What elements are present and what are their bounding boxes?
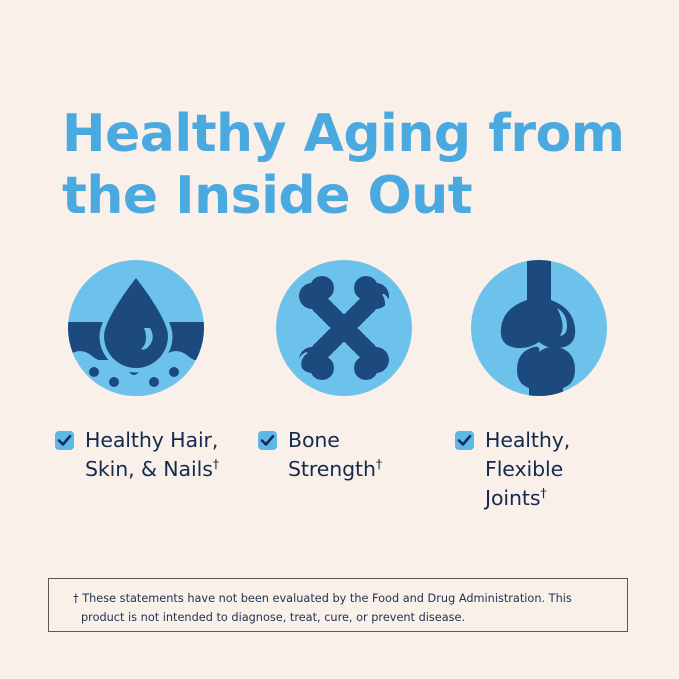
benefit-label-line-3: Joints — [485, 486, 540, 510]
benefit-label-row: Healthy, Flexible Joints† — [455, 426, 655, 513]
disclaimer-text: † These statements have not been evaluat… — [73, 589, 609, 627]
benefit-label-hair-skin-nails: Healthy Hair, Skin, & Nails† — [85, 426, 219, 484]
benefit-item-bone-strength: Bone Strength† — [258, 260, 458, 484]
page-title-line-1: Healthy Aging from — [62, 103, 632, 165]
checkmark-icon — [55, 431, 74, 450]
benefit-label-line-1: Healthy Hair, — [85, 428, 218, 452]
page-title: Healthy Aging from the Inside Out — [62, 103, 632, 227]
benefit-label-row: Healthy Hair, Skin, & Nails† — [55, 426, 255, 484]
product-benefits-panel: Healthy Aging from the Inside Out — [0, 0, 679, 679]
benefit-label-row: Bone Strength† — [258, 426, 458, 484]
knee-joint-icon — [471, 260, 607, 396]
disclaimer-box: † These statements have not been evaluat… — [48, 578, 628, 632]
footnote-marker: † — [213, 456, 219, 471]
checkmark-icon — [455, 431, 474, 450]
footnote-marker: † — [376, 456, 382, 471]
footnote-marker: † — [540, 485, 546, 500]
benefit-item-flexible-joints: Healthy, Flexible Joints† — [455, 260, 655, 513]
water-droplet-icon — [68, 260, 204, 396]
benefits-row: Healthy Hair, Skin, & Nails† — [0, 260, 679, 520]
benefit-label-flexible-joints: Healthy, Flexible Joints† — [485, 426, 570, 513]
benefit-label-bone-strength: Bone Strength† — [288, 426, 382, 484]
crossed-bones-icon — [276, 260, 412, 396]
benefit-label-line-1: Healthy, — [485, 428, 570, 452]
benefit-label-line-2: Strength — [288, 457, 376, 481]
page-title-line-2: the Inside Out — [62, 165, 632, 227]
benefit-label-line-1: Bone — [288, 428, 340, 452]
benefit-item-hair-skin-nails: Healthy Hair, Skin, & Nails† — [55, 260, 255, 484]
benefit-label-line-2: Skin, & Nails — [85, 457, 213, 481]
checkmark-icon — [258, 431, 277, 450]
benefit-label-line-2: Flexible — [485, 457, 563, 481]
